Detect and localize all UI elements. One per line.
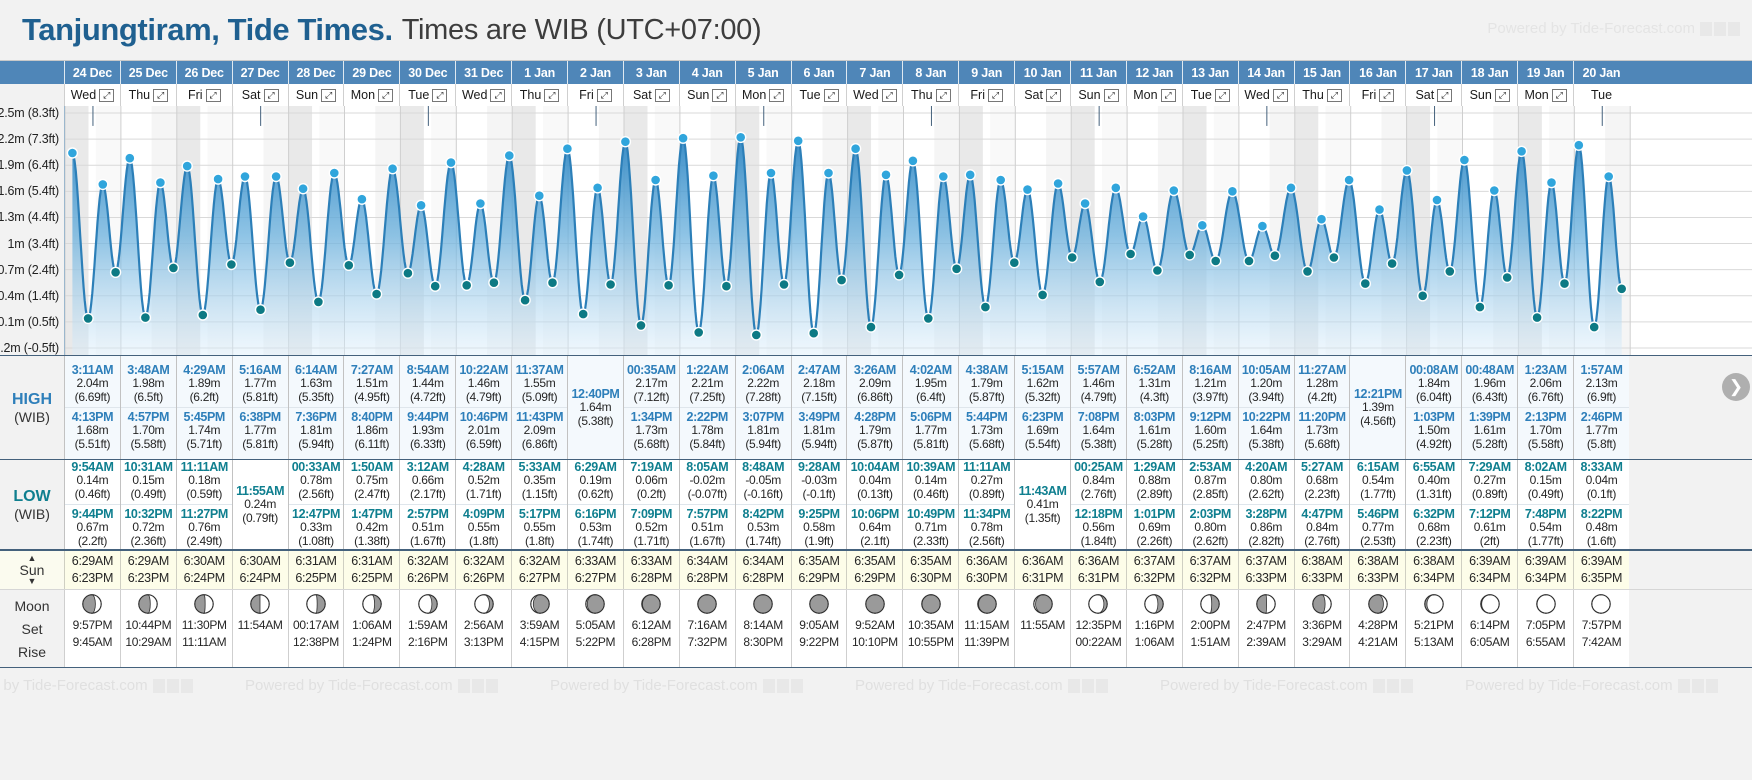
high-tide-height-m: 1.28m [1295,377,1350,391]
moonrise-time: 3:29AM [1302,634,1342,651]
high-tide-point-14[interactable] [271,172,281,182]
high-tide-time: 7:08PM [1071,410,1126,424]
moonset-time: 1:59AM [408,617,448,634]
low-tide-time: 8:42PM [736,507,791,521]
high-tide-point-50[interactable] [793,136,803,146]
low-tide-point-17[interactable] [313,297,323,307]
high-tide-height-ft: (6.5ft) [121,391,176,405]
footer-watermark-badges [458,679,498,693]
expand-day-icon[interactable]: ⤢ [1495,89,1510,102]
low-tide-height-ft: (2.1ft) [847,535,902,549]
high-tide-point-10[interactable] [213,174,223,184]
low-tide-point-49[interactable] [779,280,789,290]
high-tide-point-104[interactable] [1574,140,1584,150]
low-tide-time: 6:29AM [568,460,623,474]
high-tide-height-ft: (5.35ft) [289,391,344,405]
low-tide-height-ft: (0.13ft) [847,488,902,502]
badge-icon-3 [1728,22,1740,36]
low-tide-point-29[interactable] [489,278,499,288]
high-tide-point-36[interactable] [593,183,603,193]
high-tide-time: 4:57PM [121,410,176,424]
low-tide-height-m: 0.80m [1183,521,1238,535]
low-tide-point-53[interactable] [837,275,847,285]
high-tide-height-m: 2.21m [680,377,735,391]
low-tide-point-59[interactable] [923,313,933,323]
low-tide-point-1[interactable] [83,313,93,323]
high-tide-event: 10:46PM2.01m(6.59ft) [456,407,511,454]
date-header-12[interactable]: 5 Jan [735,61,791,84]
expand-day-icon[interactable]: ⤢ [490,89,505,102]
high-tide-row: HIGH (WIB) 3:11AM2.04m(6.69ft)4:13PM1.68… [0,355,1752,459]
moonset-time: 4:28PM [1358,617,1398,634]
low-tide-point-19[interactable] [344,260,354,270]
high-tide-point-42[interactable] [678,133,688,143]
low-tide-height-ft: (1.38ft) [344,535,399,549]
expand-day-icon[interactable]: ⤢ [544,89,559,102]
moon-cell-11: 7:16AM7:32PM [679,590,735,667]
high-tide-point-70[interactable] [1080,199,1090,209]
high-tide-point-34[interactable] [562,144,572,154]
low-tide-point-73[interactable] [1126,249,1136,259]
sun-cell-27: 6:39AM6:35PM [1573,551,1629,589]
high-tide-point-54[interactable] [851,144,861,154]
date-header-25[interactable]: 18 Jan [1461,61,1517,84]
expand-day-icon[interactable]: ⤢ [824,89,839,102]
low-tide-point-79[interactable] [1211,256,1221,266]
low-tide-point-97[interactable] [1475,302,1485,312]
low-tide-event: 5:27AM0.68m(2.23ft) [1295,458,1350,504]
weekday-label: Sun [1470,88,1492,102]
date-header-20[interactable]: 13 Jan [1182,61,1238,84]
low-tide-point-45[interactable] [721,281,731,291]
weekday-cell-7: Wed⤢ [455,84,511,106]
moon-phase-icon [1143,593,1165,615]
high-tide-point-28[interactable] [475,199,485,209]
low-tide-point-31[interactable] [520,295,530,305]
expand-day-icon[interactable]: ⤢ [769,89,784,102]
sunset-time: 6:31PM [1022,570,1063,587]
moonset-label-text: Set [21,621,42,637]
low-tide-point-33[interactable] [548,278,558,288]
date-header-19[interactable]: 12 Jan [1126,61,1182,84]
high-tide-point-48[interactable] [766,168,776,178]
low-tide-point-83[interactable] [1270,251,1280,261]
low-tide-point-7[interactable] [168,263,178,273]
weekday-label: Wed [1244,88,1269,102]
high-tide-time: 6:23PM [1015,410,1070,424]
low-tide-point-23[interactable] [403,268,413,278]
weekday-label: Wed [71,88,96,102]
low-tide-height-ft: (1.74ft) [736,535,791,549]
y-axis-tick-4: 1.3m (4.4ft) [0,210,59,224]
footer-watermark-text: Powered by Tide-Forecast.com [1465,677,1673,694]
weekday-label: Thu [520,88,542,102]
date-header-8[interactable]: 1 Jan [511,61,567,84]
high-tide-height-m: 1.60m [1183,424,1238,438]
low-tide-event: 12:18PM0.56m(1.84ft) [1071,504,1126,551]
low-tide-point-61[interactable] [952,264,962,274]
sun-cell-23: 6:38AM6:33PM [1349,551,1405,589]
sunrise-time: 6:31AM [295,553,336,570]
date-header-3[interactable]: 27 Dec [232,61,288,84]
low-tide-height-m: 0.78m [289,474,344,488]
high-tide-event: 11:43PM2.09m(6.86ft) [512,407,567,454]
high-tide-height-ft: (5.09ft) [512,391,567,405]
low-tide-time: 8:05AM [680,460,735,474]
tide-grid: 24 Dec25 Dec26 Dec27 Dec28 Dec29 Dec30 D… [0,60,1752,667]
low-tide-time: 3:28PM [1239,507,1294,521]
expand-day-icon[interactable]: ⤢ [1161,89,1176,102]
low-tide-point-103[interactable] [1560,279,1570,289]
high-tide-height-ft: (4.56ft) [1350,415,1405,429]
high-tide-point-64[interactable] [996,175,1006,185]
weekday-cells: Wed⤢Thu⤢Fri⤢Sat⤢Sun⤢Mon⤢Tue⤢Wed⤢Thu⤢Fri⤢… [64,84,1752,106]
date-header-26[interactable]: 19 Jan [1517,61,1573,84]
high-tide-cell-26: 1:23AM2.06m(6.76ft)2:13PM1.70m(5.58ft) [1517,356,1573,459]
low-tide-height-m: 0.75m [344,474,399,488]
low-tide-point-101[interactable] [1532,313,1542,323]
low-tide-event: 8:33AM0.04m(0.1ft) [1574,458,1629,504]
low-tide-point-107[interactable] [1617,284,1627,294]
high-tide-height-m: 1.39m [1350,401,1405,415]
high-tide-point-106[interactable] [1604,172,1614,182]
high-tide-point-40[interactable] [651,175,661,185]
weekday-label: Tue [408,88,429,102]
low-tide-point-105[interactable] [1589,322,1599,332]
sun-cell-15: 6:35AM6:30PM [902,551,958,589]
sun-cell-14: 6:35AM6:29PM [846,551,902,589]
high-tide-point-8[interactable] [182,161,192,171]
low-tide-cell-14: 10:04AM0.04m(0.13ft)10:06PM0.64m(2.1ft) [846,460,902,549]
badge-icon-2 [1714,22,1726,36]
expand-day-icon[interactable]: ⤢ [321,89,336,102]
high-tide-point-38[interactable] [620,137,630,147]
low-tide-point-5[interactable] [140,313,150,323]
low-tide-point-43[interactable] [694,327,704,337]
moonrise-time: 4:21AM [1358,634,1398,651]
moon-cell-16: 11:15AM11:39PM [958,590,1014,667]
chart-plot-area[interactable] [64,106,1752,355]
low-tide-point-3[interactable] [111,267,121,277]
low-tide-point-13[interactable] [256,305,266,315]
date-header-7[interactable]: 31 Dec [455,61,511,84]
high-tide-cell-15: 4:02AM1.95m(6.4ft)5:06PM1.77m(5.81ft) [902,356,958,459]
high-tide-point-90[interactable] [1375,205,1385,215]
low-tide-point-77[interactable] [1185,250,1195,260]
high-tide-time: 3:26AM [847,363,902,377]
expand-day-icon[interactable]: ⤢ [432,89,447,102]
high-tide-point-0[interactable] [67,148,77,158]
low-tide-point-89[interactable] [1360,279,1370,289]
low-tide-height-ft: (2.62ft) [1183,535,1238,549]
date-header-6[interactable]: 30 Dec [399,61,455,84]
date-header-23[interactable]: 16 Jan [1349,61,1405,84]
date-header-9[interactable]: 2 Jan [567,61,623,84]
moon-phase-icon [1535,593,1557,615]
moonset-time: 10:35AM [908,617,954,634]
low-tide-point-37[interactable] [606,280,616,290]
high-tide-time: 4:28PM [847,410,902,424]
moonrise-time: 00:22AM [1076,634,1122,651]
date-header-4[interactable]: 28 Dec [288,61,344,84]
weekday-label: Sat [1415,88,1434,102]
date-header-17[interactable]: 10 Jan [1014,61,1070,84]
low-tide-point-71[interactable] [1095,277,1105,287]
expand-day-icon[interactable]: ⤢ [655,89,670,102]
date-header-21[interactable]: 14 Jan [1238,61,1294,84]
low-tide-point-99[interactable] [1502,273,1512,283]
high-tide-time: 9:44PM [400,410,455,424]
high-tide-point-82[interactable] [1257,221,1267,231]
sun-cell-1: 6:29AM6:23PM [120,551,176,589]
low-tide-point-63[interactable] [980,302,990,312]
low-tide-cell-15: 10:39AM0.14m(0.46ft)10:49PM0.71m(2.33ft) [902,460,958,549]
high-tide-point-16[interactable] [298,184,308,194]
moonset-time: 00:17AM [293,617,339,634]
low-tide-height-m: 0.72m [121,521,176,535]
expand-day-icon[interactable]: ⤢ [882,89,897,102]
high-tide-point-72[interactable] [1111,183,1121,193]
low-tide-point-91[interactable] [1387,259,1397,269]
expand-day-icon[interactable]: ⤢ [1379,89,1394,102]
moon-phase-icon [137,593,159,615]
date-header-27[interactable]: 20 Jan [1573,61,1629,84]
low-tide-point-15[interactable] [285,258,295,268]
low-tide-cell-16: 11:11AM0.27m(0.89ft)11:34PM0.78m(2.56ft) [958,460,1014,549]
low-tide-point-11[interactable] [226,260,236,270]
high-tide-point-58[interactable] [908,156,918,166]
expand-day-icon[interactable]: ⤢ [153,89,168,102]
high-tide-point-32[interactable] [534,191,544,201]
high-tide-height-ft: (4.72ft) [400,391,455,405]
date-header-22[interactable]: 15 Jan [1294,61,1350,84]
low-tide-point-81[interactable] [1244,256,1254,266]
date-header-13[interactable]: 6 Jan [791,61,847,84]
high-tide-height-m: 1.98m [121,377,176,391]
high-tide-height-m: 2.01m [456,424,511,438]
expand-day-icon[interactable]: ⤢ [712,89,727,102]
scroll-right-arrow-icon[interactable]: ❯ [1722,373,1750,401]
weekday-label: Sat [633,88,652,102]
moonrise-time: 6:55AM [1526,634,1566,651]
high-tide-time: 12:21PM [1350,387,1405,401]
high-tide-point-6[interactable] [155,178,165,188]
page-title: Tanjungtiram, Tide Times. [22,12,393,48]
date-header-11[interactable]: 4 Jan [679,61,735,84]
moonset-time: 6:14PM [1470,617,1510,634]
high-tide-point-52[interactable] [824,168,834,178]
footer-badge-icon-0 [1373,679,1385,693]
moon-phase-icon [864,593,886,615]
high-tide-point-2[interactable] [98,179,108,189]
low-tide-height-ft: (1.35ft) [1015,512,1070,526]
high-tide-point-96[interactable] [1459,155,1469,165]
high-tide-point-98[interactable] [1489,186,1499,196]
low-tide-point-57[interactable] [894,270,904,280]
sun-cell-2: 6:30AM6:24PM [176,551,232,589]
low-tide-point-95[interactable] [1445,266,1455,276]
expand-day-icon[interactable]: ⤢ [1552,89,1567,102]
low-tide-time: 00:25AM [1071,460,1126,474]
high-tide-height-ft: (5.25ft) [1183,438,1238,452]
date-header-2[interactable]: 26 Dec [176,61,232,84]
high-tide-point-18[interactable] [329,168,339,178]
low-tide-event: 5:17PM0.55m(1.8ft) [512,504,567,551]
expand-day-icon[interactable]: ⤢ [1215,89,1230,102]
low-tide-time: 1:50AM [344,460,399,474]
low-tide-event: 5:46PM0.77m(2.53ft) [1350,504,1405,551]
high-tide-point-86[interactable] [1317,214,1327,224]
high-tide-point-66[interactable] [1023,185,1033,195]
high-tide-point-88[interactable] [1344,175,1354,185]
expand-day-icon[interactable]: ⤢ [206,89,221,102]
high-tide-event: 4:57PM1.70m(5.58ft) [121,407,176,454]
high-tide-point-62[interactable] [965,170,975,180]
low-tide-point-21[interactable] [372,289,382,299]
date-header-10[interactable]: 3 Jan [623,61,679,84]
expand-day-icon[interactable]: ⤢ [988,89,1003,102]
date-header-15[interactable]: 8 Jan [902,61,958,84]
low-tide-height-m: 0.52m [624,521,679,535]
low-tide-point-93[interactable] [1418,291,1428,301]
low-tide-height-ft: (0.2ft) [624,488,679,502]
sunrise-time: 6:36AM [966,553,1007,570]
high-tide-point-46[interactable] [736,132,746,142]
sunset-time: 6:25PM [295,570,336,587]
high-tide-height-m: 1.55m [512,377,567,391]
expand-day-icon[interactable]: ⤢ [936,89,951,102]
moonset-time: 2:00PM [1190,617,1230,634]
date-header-14[interactable]: 7 Jan [846,61,902,84]
high-tide-point-60[interactable] [938,172,948,182]
high-tide-point-68[interactable] [1053,179,1063,189]
sun-cell-17: 6:36AM6:31PM [1014,551,1070,589]
high-tide-event: 5:15AM1.62m(5.32ft) [1015,361,1070,407]
sunset-time: 6:24PM [184,570,225,587]
high-tide-point-12[interactable] [240,172,250,182]
high-tide-cell-25: 00:48AM1.96m(6.43ft)1:39PM1.61m(5.28ft) [1461,356,1517,459]
high-tide-point-94[interactable] [1432,195,1442,205]
low-tide-point-51[interactable] [809,328,819,338]
low-tide-point-9[interactable] [198,310,208,320]
high-tide-point-84[interactable] [1286,183,1296,193]
expand-day-icon[interactable]: ⤢ [264,89,279,102]
high-tide-point-102[interactable] [1547,178,1557,188]
low-tide-point-75[interactable] [1152,266,1162,276]
low-tide-point-65[interactable] [1009,258,1019,268]
weekday-label: Sat [242,88,261,102]
low-tide-event: 9:54AM0.14m(0.46ft) [65,458,120,504]
high-tide-point-20[interactable] [357,194,367,204]
high-label-text: HIGH [12,391,52,409]
low-tide-point-41[interactable] [664,280,674,290]
low-tide-point-47[interactable] [751,330,761,340]
low-tide-cell-8: 5:33AM0.35m(1.15ft)5:17PM0.55m(1.8ft) [511,460,567,549]
low-tide-event: 10:32PM0.72m(2.36ft) [121,504,176,551]
low-tide-height-ft: (0.46ft) [903,488,958,502]
low-tide-time: 9:44PM [65,507,120,521]
expand-day-icon[interactable]: ⤢ [597,89,612,102]
expand-day-icon[interactable]: ⤢ [1046,89,1061,102]
moon-cell-26: 7:05PM6:55AM [1517,590,1573,667]
weekday-cell-13: Tue⤢ [791,84,847,106]
low-tide-point-85[interactable] [1303,266,1313,276]
low-tide-height-ft: (2.56ft) [959,535,1014,549]
expand-day-icon[interactable]: ⤢ [1104,89,1119,102]
high-tide-point-80[interactable] [1227,186,1237,196]
high-tide-height-ft: (5.81ft) [903,438,958,452]
sunrise-time: 6:34AM [687,553,728,570]
high-tide-cell-17: 5:15AM1.62m(5.32ft)6:23PM1.69m(5.54ft) [1014,356,1070,459]
high-tide-point-56[interactable] [881,170,891,180]
sunrise-time: 6:31AM [351,553,392,570]
date-header-0[interactable]: 24 Dec [64,61,120,84]
date-header-18[interactable]: 11 Jan [1070,61,1126,84]
high-tide-point-78[interactable] [1197,220,1207,230]
high-tide-point-24[interactable] [416,200,426,210]
sunrise-time: 6:33AM [631,553,672,570]
low-tide-point-35[interactable] [578,309,588,319]
high-tide-point-92[interactable] [1402,165,1412,175]
high-tide-event: 2:22PM1.78m(5.84ft) [680,407,735,454]
footer-watermark-badges [1678,679,1718,693]
high-tide-point-26[interactable] [446,158,456,168]
sunrise-time: 6:37AM [1134,553,1175,570]
high-tide-height-m: 2.09m [847,377,902,391]
date-header-5[interactable]: 29 Dec [343,61,399,84]
high-tide-event: 6:23PM1.69m(5.54ft) [1015,407,1070,454]
sunrise-time: 6:35AM [854,553,895,570]
high-tide-height-m: 1.78m [680,424,735,438]
high-tide-height-ft: (5.38ft) [568,415,623,429]
date-header-1[interactable]: 25 Dec [120,61,176,84]
low-tide-event: 2:03PM0.80m(2.62ft) [1183,504,1238,551]
expand-day-icon[interactable]: ⤢ [378,89,393,102]
sunset-time: 6:33PM [1246,570,1287,587]
high-tide-point-22[interactable] [388,164,398,174]
expand-day-icon[interactable]: ⤢ [1437,89,1452,102]
high-tide-point-74[interactable] [1138,212,1148,222]
date-header-16[interactable]: 9 Jan [958,61,1014,84]
expand-day-icon[interactable]: ⤢ [1327,89,1342,102]
high-tide-height-ft: (5.51ft) [65,438,120,452]
moonrise-time: 5:13AM [1414,634,1454,651]
expand-day-icon[interactable]: ⤢ [1273,89,1288,102]
low-tide-point-67[interactable] [1038,290,1048,300]
low-tide-point-69[interactable] [1067,253,1077,263]
low-tide-height-m: 0.27m [1462,474,1517,488]
low-tide-point-27[interactable] [462,280,472,290]
moon-phase-icon [1255,593,1277,615]
low-tide-point-39[interactable] [636,320,646,330]
high-tide-point-76[interactable] [1169,186,1179,196]
high-tide-point-30[interactable] [504,151,514,161]
low-tide-time: 8:02AM [1518,460,1573,474]
low-tide-point-25[interactable] [430,281,440,291]
high-tide-point-4[interactable] [125,153,135,163]
high-tide-event: 5:57AM1.46m(4.79ft) [1071,361,1126,407]
low-tide-point-55[interactable] [866,322,876,332]
expand-day-icon[interactable]: ⤢ [99,89,114,102]
high-tide-height-m: 1.81m [792,424,847,438]
date-header-24[interactable]: 17 Jan [1405,61,1461,84]
sunrise-time: 6:35AM [798,553,839,570]
high-tide-point-100[interactable] [1517,146,1527,156]
low-tide-point-87[interactable] [1329,253,1339,263]
high-tide-time: 3:07PM [736,410,791,424]
low-tide-event: 1:47PM0.42m(1.38ft) [344,504,399,551]
high-tide-point-44[interactable] [708,171,718,181]
